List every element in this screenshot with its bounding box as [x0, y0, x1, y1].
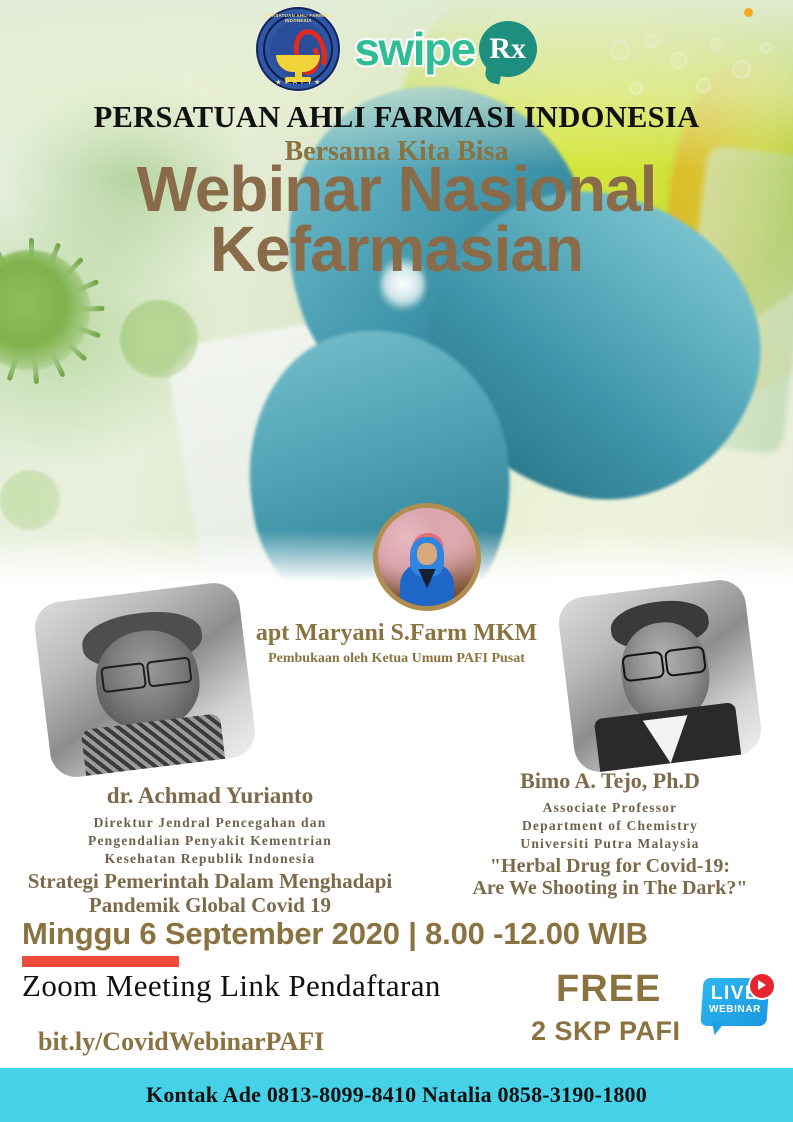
contact-bar: Kontak Ade 0813-8099-8410 Natalia 0858-3…: [0, 1068, 793, 1122]
left-speaker-role: Direktur Jendral Pencegahan dan Pengenda…: [0, 814, 420, 867]
live-webinar-badge: LIVE WEBINAR: [700, 972, 776, 1038]
credits-label: 2 SKP PAFI: [531, 1016, 681, 1047]
left-speaker-topic-line2: Pandemik Global Covid 19: [0, 894, 420, 917]
right-speaker-role: Associate Professor Department of Chemis…: [427, 799, 793, 852]
webinar-poster: PERSATUAN AHLI FARMASI INDONESIA ★ P A F…: [0, 0, 793, 1122]
right-speaker-role-line2: Department of Chemistry: [427, 817, 793, 835]
rx-label: Rx: [489, 34, 526, 64]
page-title: Webinar Nasional Kefarmasian: [0, 160, 793, 279]
contact-text: Kontak Ade 0813-8099-8410 Natalia 0858-3…: [146, 1082, 647, 1108]
pafi-logo-ring-text: PERSATUAN AHLI FARMASI INDONESIA: [258, 13, 338, 23]
virus-particle-2: [120, 300, 198, 378]
pafi-logo-icon: PERSATUAN AHLI FARMASI INDONESIA ★ P A F…: [256, 7, 340, 91]
swiperx-logo: swipe Rx: [354, 21, 536, 77]
left-speaker-role-line3: Kesehatan Republik Indonesia: [0, 850, 420, 868]
price-label: FREE: [556, 968, 661, 1011]
left-speaker-name: dr. Achmad Yurianto: [0, 783, 420, 809]
center-speaker-avatar: [373, 503, 481, 611]
right-speaker-block: Bimo A. Tejo, Ph.D Associate Professor D…: [427, 768, 793, 899]
left-speaker-role-line1: Direktur Jendral Pencegahan dan: [0, 814, 420, 832]
swipe-wordmark: swipe: [354, 22, 474, 76]
rx-speech-bubble-icon: Rx: [479, 21, 537, 77]
pafi-logo-bottom-text: ★ P A F I ★: [258, 79, 338, 86]
platform-registration-label: Zoom Meeting Link Pendaftaran: [22, 968, 441, 1004]
play-button-icon: [748, 972, 776, 1000]
live-badge-line2: WEBINAR: [700, 1004, 770, 1015]
swipe-dot-icon: [744, 8, 753, 17]
red-underline-accent: [22, 956, 179, 967]
main-title-line2: Kefarmasian: [0, 220, 793, 280]
event-date-time: Minggu 6 September 2020 | 8.00 -12.00 WI…: [22, 916, 648, 952]
left-speaker-block: dr. Achmad Yurianto Direktur Jendral Pen…: [0, 783, 420, 917]
right-speaker-name: Bimo A. Tejo, Ph.D: [427, 768, 793, 794]
right-speaker-photo: [566, 588, 754, 764]
left-speaker-role-line2: Pengendalian Penyakit Kementrian: [0, 832, 420, 850]
registration-link[interactable]: bit.ly/CovidWebinarPAFI: [38, 1027, 324, 1057]
organization-title: PERSATUAN AHLI FARMASI INDONESIA: [0, 100, 793, 135]
logo-row: PERSATUAN AHLI FARMASI INDONESIA ★ P A F…: [0, 6, 793, 92]
left-speaker-topic: Strategi Pemerintah Dalam Menghadapi Pan…: [0, 870, 420, 916]
right-speaker-topic-line2: Are We Shooting in The Dark?": [427, 877, 793, 899]
right-speaker-role-line3: Universiti Putra Malaysia: [427, 835, 793, 853]
right-speaker-topic-line1: "Herbal Drug for Covid-19:: [427, 855, 793, 877]
right-speaker-topic: "Herbal Drug for Covid-19: Are We Shooti…: [427, 855, 793, 899]
left-speaker-topic-line1: Strategi Pemerintah Dalam Menghadapi: [0, 870, 420, 893]
left-speaker-photo: [42, 592, 248, 768]
right-speaker-role-line1: Associate Professor: [427, 799, 793, 817]
virus-particle-3: [0, 470, 60, 530]
